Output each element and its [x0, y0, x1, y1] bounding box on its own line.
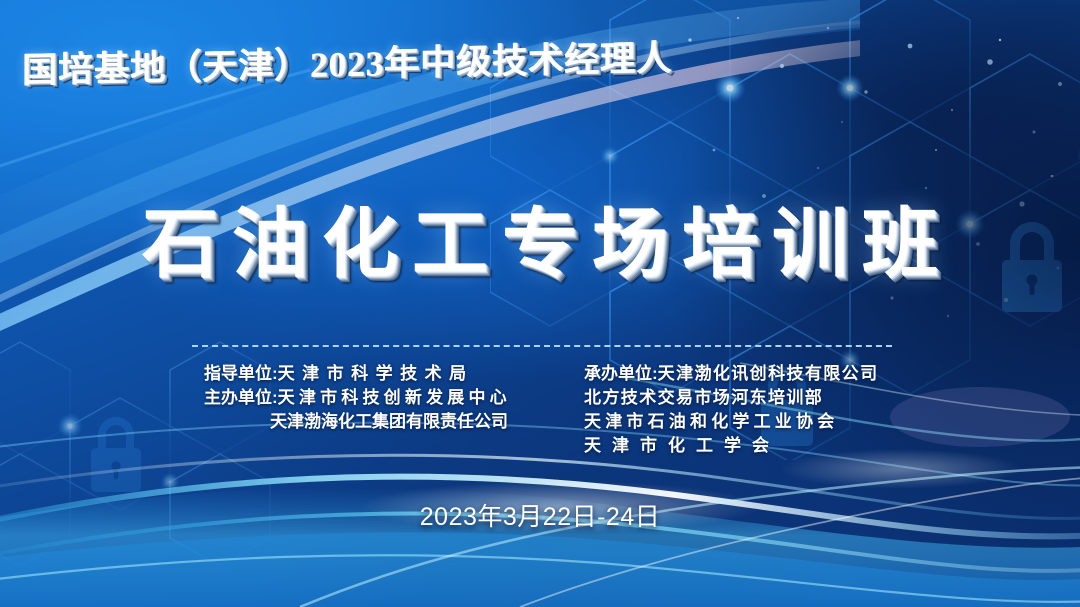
org-value: 天津市科学技术局 — [278, 362, 474, 386]
org-value: 天津渤海化工集团有限责任公司 — [270, 410, 508, 434]
org-label: 承办单位: — [584, 362, 658, 386]
list-item: 天津市石油和化学工业协会 — [584, 410, 838, 434]
page-title: 石油化工专场培训班 — [0, 182, 1080, 292]
event-date: 2023年3月22日-24日 — [0, 497, 1080, 533]
org-label: 主办单位: — [204, 386, 278, 410]
list-item: 天津市化工学会 — [584, 434, 780, 458]
org-label: 指导单位: — [204, 362, 278, 386]
list-item: 主办单位: 天津市科技创新发展中心 — [204, 386, 511, 410]
list-item: 北方技术交易市场河东培训部 — [584, 386, 823, 410]
poster-kicker: 国培基地（天津）2023年中级技术经理人 — [22, 30, 672, 93]
poster-content: 国培基地（天津）2023年中级技术经理人 石油化工专场培训班 指导单位: 天津市… — [0, 0, 1080, 607]
org-value: 天津市化工学会 — [584, 434, 780, 458]
poster-canvas: 国培基地（天津）2023年中级技术经理人 石油化工专场培训班 指导单位: 天津市… — [0, 0, 1080, 607]
divider — [192, 345, 892, 347]
organizations-right-column: 承办单位: 天津渤化讯创科技有限公司 北方技术交易市场河东培训部 天津市石油和化… — [584, 362, 884, 458]
list-item: 指导单位: 天津市科学技术局 — [204, 362, 474, 386]
org-value: 天津市科技创新发展中心 — [278, 386, 511, 410]
organizations-left-column: 指导单位: 天津市科学技术局 主办单位: 天津市科技创新发展中心 天津渤海化工集… — [196, 362, 584, 458]
org-value: 天津市石油和化学工业协会 — [584, 410, 838, 434]
organizations-block: 指导单位: 天津市科学技术局 主办单位: 天津市科技创新发展中心 天津渤海化工集… — [0, 362, 1080, 458]
org-value: 天津渤化讯创科技有限公司 — [658, 362, 879, 386]
org-value: 北方技术交易市场河东培训部 — [584, 386, 823, 410]
list-item: 承办单位: 天津渤化讯创科技有限公司 — [584, 362, 878, 386]
list-item: 天津渤海化工集团有限责任公司 — [204, 410, 508, 434]
